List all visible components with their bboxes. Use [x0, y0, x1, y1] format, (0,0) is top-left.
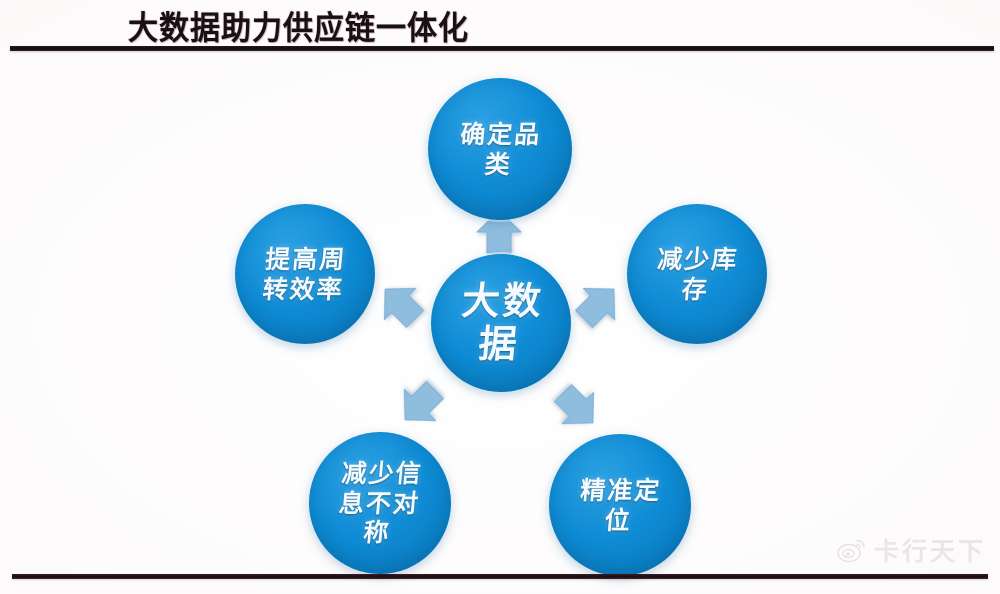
node-define-category[interactable]: 确定品 类 — [428, 78, 572, 220]
arrow-up-right-icon — [562, 267, 636, 341]
arrow-down-right-icon — [541, 371, 615, 445]
title-divider-top — [10, 46, 994, 51]
watermark-label: 卡行天下 — [874, 532, 986, 568]
slide-canvas: 大数据助力供应链一体化 — [0, 0, 1000, 594]
node-improve-turnover-efficiency[interactable]: 提高周 转效率 — [235, 204, 375, 344]
arrow-down-left-icon — [383, 368, 457, 442]
node-define-category-label: 确定品 类 — [451, 120, 549, 179]
node-reduce-information-asymmetry[interactable]: 减少信 息不对 称 — [309, 432, 451, 574]
node-precise-positioning-label: 精准定 位 — [571, 476, 669, 535]
node-big-data-label: 大数 据 — [450, 280, 551, 365]
weibo-logo-icon — [837, 537, 867, 563]
node-improve-turnover-efficiency-label: 提高周 转效率 — [256, 245, 354, 304]
node-reduce-inventory[interactable]: 减少库 存 — [627, 204, 767, 344]
title-bar: 大数据助力供应链一体化 — [0, 0, 1000, 52]
node-big-data[interactable]: 大数 据 — [431, 254, 571, 392]
hub-and-spoke-diagram: 大数 据 确定品 类 减少库 存 精准定 位 减少信 息不对 称 提高周 转效率 — [0, 52, 1000, 579]
node-reduce-information-asymmetry-label: 减少信 息不对 称 — [330, 459, 431, 548]
node-reduce-inventory-label: 减少库 存 — [648, 245, 746, 304]
node-precise-positioning[interactable]: 精准定 位 — [549, 434, 691, 576]
footer-divider-bottom — [12, 574, 988, 579]
watermark: 卡行天下 — [837, 532, 986, 568]
page-title: 大数据助力供应链一体化 — [128, 1, 469, 49]
